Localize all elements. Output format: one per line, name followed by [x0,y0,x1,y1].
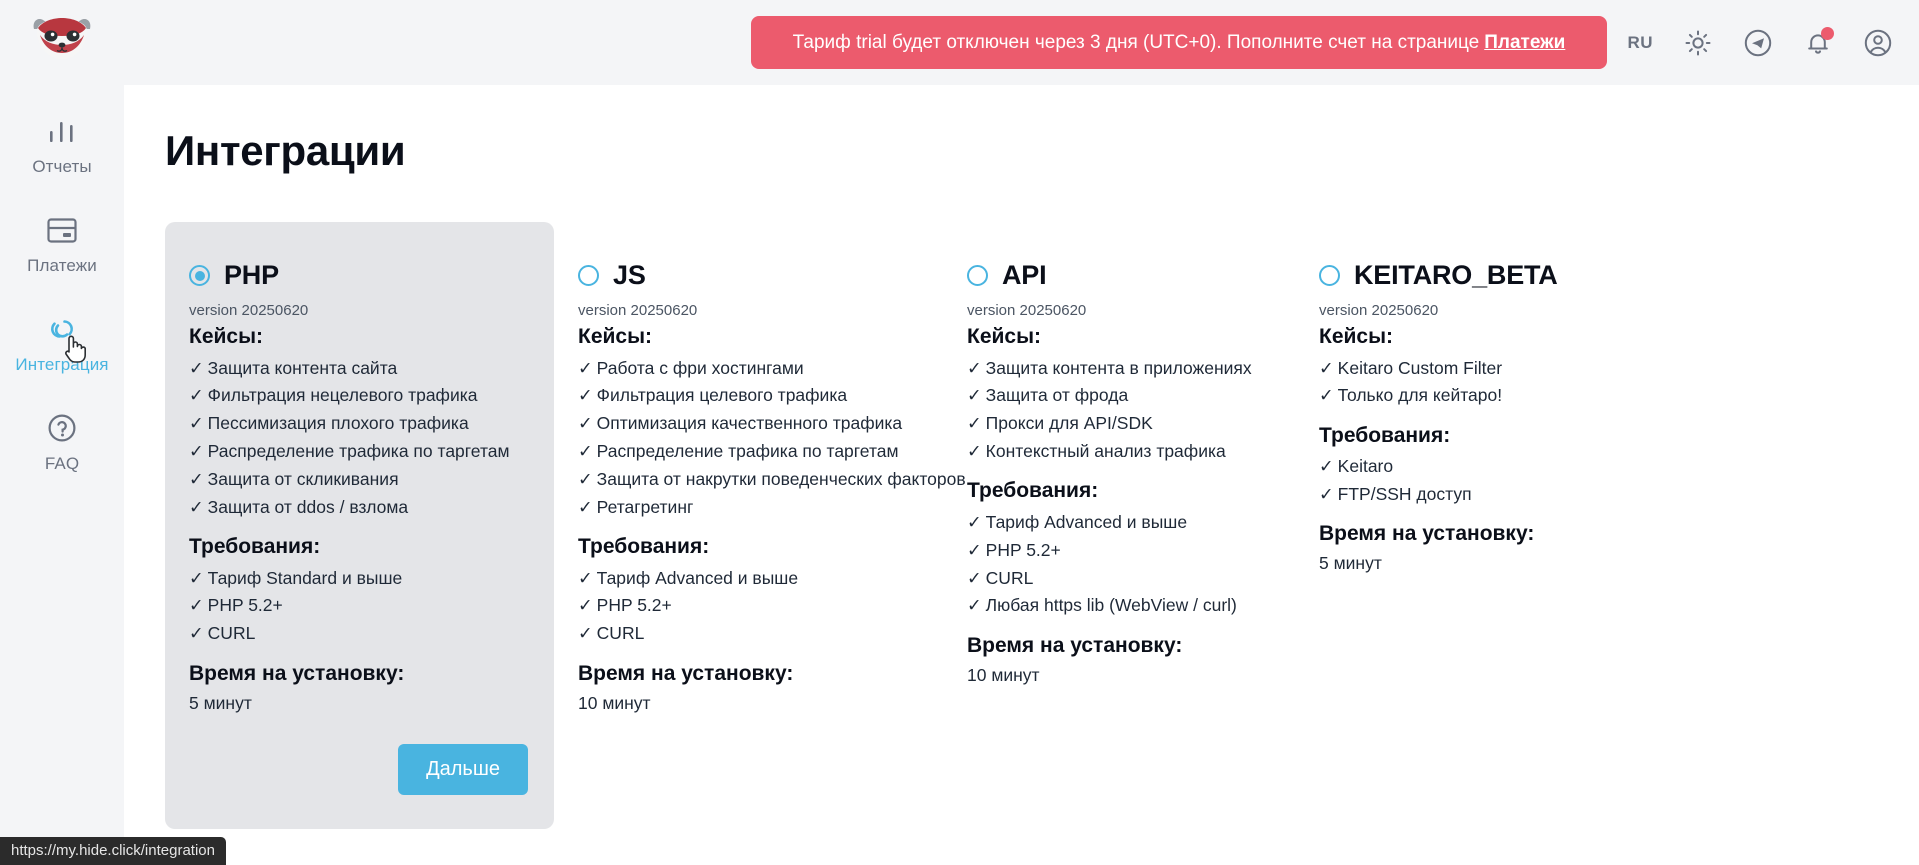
case-item: ✓Фильтрация целевого трафика [578,382,917,410]
install-time-label-keitaro-beta: Время на установку: [1319,522,1558,546]
card-version-php: version 20250620 [189,302,528,319]
integration-card-php[interactable]: PHP version 20250620 Кейсы: ✓Защита конт… [165,222,554,829]
install-time-js: 10 минут [578,691,917,714]
telegram-icon[interactable] [1743,28,1773,58]
radio-api[interactable] [967,265,988,286]
check-icon: ✓ [578,595,593,615]
requirement-item: ✓Тариф Advanced и выше [967,508,1269,536]
case-item: ✓Только для кейтаро! [1319,382,1558,410]
requirement-item: ✓CURL [189,620,528,648]
sidebar-item-reports[interactable]: Отчеты [0,114,124,177]
language-switcher[interactable]: RU [1627,33,1653,53]
check-icon: ✓ [1319,385,1334,405]
check-icon: ✓ [578,497,593,517]
requirement-item: ✓Тариф Advanced и выше [578,564,917,592]
card-version-api: version 20250620 [967,302,1269,319]
requirement-item: ✓Keitaro [1319,453,1558,481]
status-bar-url: https://my.hide.click/integration [0,837,226,865]
check-icon: ✓ [1319,358,1334,378]
card-header: KEITARO_BETA [1319,260,1558,291]
requirement-item: ✓FTP/SSH доступ [1319,481,1558,509]
card-title-js: JS [613,260,646,291]
sidebar-nav: Отчеты Платежи [0,114,124,510]
card-version-keitaro-beta: version 20250620 [1319,302,1558,319]
sun-icon[interactable] [1683,28,1713,58]
radio-php[interactable] [189,265,210,286]
cases-label-api: Кейсы: [967,325,1269,349]
check-icon: ✓ [967,512,982,532]
card-header: JS [578,260,917,291]
check-icon: ✓ [189,358,204,378]
requirements-label-keitaro-beta: Требования: [1319,424,1558,448]
requirements-label-php: Требования: [189,535,528,559]
install-time-keitaro-beta: 5 минут [1319,551,1558,574]
trial-alert-text: Тариф trial будет отключен через 3 дня (… [793,32,1480,54]
question-circle-icon [45,411,79,445]
sidebar-item-payments-label: Платежи [27,256,97,276]
case-item: ✓Защита от фрода [967,382,1269,410]
case-item: ✓Оптимизация качественного трафика [578,410,917,438]
app-root: Отчеты Платежи [0,0,1919,865]
card-actions: Дальше [189,744,528,795]
page-title: Интеграции [165,127,1919,175]
check-icon: ✓ [578,413,593,433]
sidebar-item-integration[interactable]: Интеграция [0,312,124,375]
case-item: ✓Защита от ddos / взлома [189,493,528,521]
integration-card-keitaro-beta[interactable]: KEITARO_BETA version 20250620 Кейсы: ✓Ke… [1295,222,1584,608]
check-icon: ✓ [967,358,982,378]
case-item: ✓Keitaro Custom Filter [1319,354,1558,382]
check-icon: ✓ [189,441,204,461]
check-icon: ✓ [967,568,982,588]
cases-label-js: Кейсы: [578,325,917,349]
case-item: ✓Защита контента в приложениях [967,354,1269,382]
bell-icon[interactable] [1803,28,1833,58]
notification-badge [1821,27,1834,40]
requirement-item: ✓Тариф Standard и выше [189,564,528,592]
check-icon: ✓ [967,595,982,615]
check-icon: ✓ [578,623,593,643]
card-header: API [967,260,1269,291]
check-icon: ✓ [1319,484,1334,504]
card-header: PHP [189,260,528,291]
trial-alert-banner: Тариф trial будет отключен через 3 дня (… [751,16,1607,69]
check-icon: ✓ [578,568,593,588]
check-icon: ✓ [967,413,982,433]
requirement-item: ✓PHP 5.2+ [578,592,917,620]
integration-card-js[interactable]: JS version 20250620 Кейсы: ✓Работа с фри… [554,222,943,748]
card-title-keitaro-beta: KEITARO_BETA [1354,260,1558,291]
radio-keitaro-beta[interactable] [1319,265,1340,286]
check-icon: ✓ [578,441,593,461]
check-icon: ✓ [189,385,204,405]
integration-card-api[interactable]: API version 20250620 Кейсы: ✓Защита конт… [943,222,1295,720]
integration-cards: PHP version 20250620 Кейсы: ✓Защита конт… [165,222,1919,829]
card-version-js: version 20250620 [578,302,917,319]
check-icon: ✓ [189,595,204,615]
case-item: ✓Фильтрация нецелевого трафика [189,382,528,410]
check-icon: ✓ [967,540,982,560]
check-icon: ✓ [578,385,593,405]
check-icon: ✓ [967,441,982,461]
check-icon: ✓ [967,385,982,405]
case-item: ✓Распределение трафика по таргетам [578,438,917,466]
install-time-php: 5 минут [189,691,528,714]
sidebar-item-faq[interactable]: FAQ [0,411,124,474]
requirement-item: ✓CURL [578,620,917,648]
install-time-api: 10 минут [967,663,1269,686]
card-icon [45,213,79,247]
sidebar-item-payments[interactable]: Платежи [0,213,124,276]
case-item: ✓Контекстный анализ трафика [967,438,1269,466]
case-item: ✓Пессимизация плохого трафика [189,410,528,438]
main-content: Интеграции PHP version 20250620 Кейсы: ✓… [124,85,1919,865]
requirement-item: ✓PHP 5.2+ [967,536,1269,564]
case-item: ✓Работа с фри хостингами [578,354,917,382]
requirement-item: ✓PHP 5.2+ [189,592,528,620]
case-item: ✓Защита от накрутки поведенческих фактор… [578,465,917,493]
card-title-api: API [1002,260,1046,291]
check-icon: ✓ [578,358,593,378]
user-avatar-icon[interactable] [1863,28,1893,58]
sidebar-item-faq-label: FAQ [45,454,79,474]
card-title-php: PHP [224,260,279,291]
requirements-label-js: Требования: [578,535,917,559]
check-icon: ✓ [189,413,204,433]
case-item: ✓Защита контента сайта [189,354,528,382]
install-time-label-api: Время на установку: [967,634,1269,658]
case-item: ✓Ретагретинг [578,493,917,521]
requirement-item: ✓Любая https lib (WebView / curl) [967,592,1269,620]
cases-label-php: Кейсы: [189,325,528,349]
case-item: ✓Защита от скликивания [189,465,528,493]
link-icon [45,312,79,346]
sidebar-item-integration-label: Интеграция [15,355,108,375]
case-item: ✓Распределение трафика по таргетам [189,438,528,466]
raccoon-logo[interactable] [26,12,98,70]
check-icon: ✓ [189,469,204,489]
sidebar: Отчеты Платежи [0,0,124,865]
cases-label-keitaro-beta: Кейсы: [1319,325,1558,349]
requirements-label-api: Требования: [967,479,1269,503]
requirement-item: ✓CURL [967,564,1269,592]
check-icon: ✓ [189,497,204,517]
sidebar-item-reports-label: Отчеты [32,157,91,177]
check-icon: ✓ [1319,456,1334,476]
next-button[interactable]: Дальше [398,744,528,795]
topbar: Тариф trial будет отключен через 3 дня (… [124,0,1919,85]
install-time-label-js: Время на установку: [578,662,917,686]
bar-chart-icon [45,114,79,148]
radio-js[interactable] [578,265,599,286]
topbar-tools: RU [1627,0,1893,85]
trial-alert-payments-link[interactable]: Платежи [1484,32,1565,54]
check-icon: ✓ [189,568,204,588]
check-icon: ✓ [578,469,593,489]
case-item: ✓Прокси для API/SDK [967,410,1269,438]
install-time-label-php: Время на установку: [189,662,528,686]
check-icon: ✓ [189,623,204,643]
